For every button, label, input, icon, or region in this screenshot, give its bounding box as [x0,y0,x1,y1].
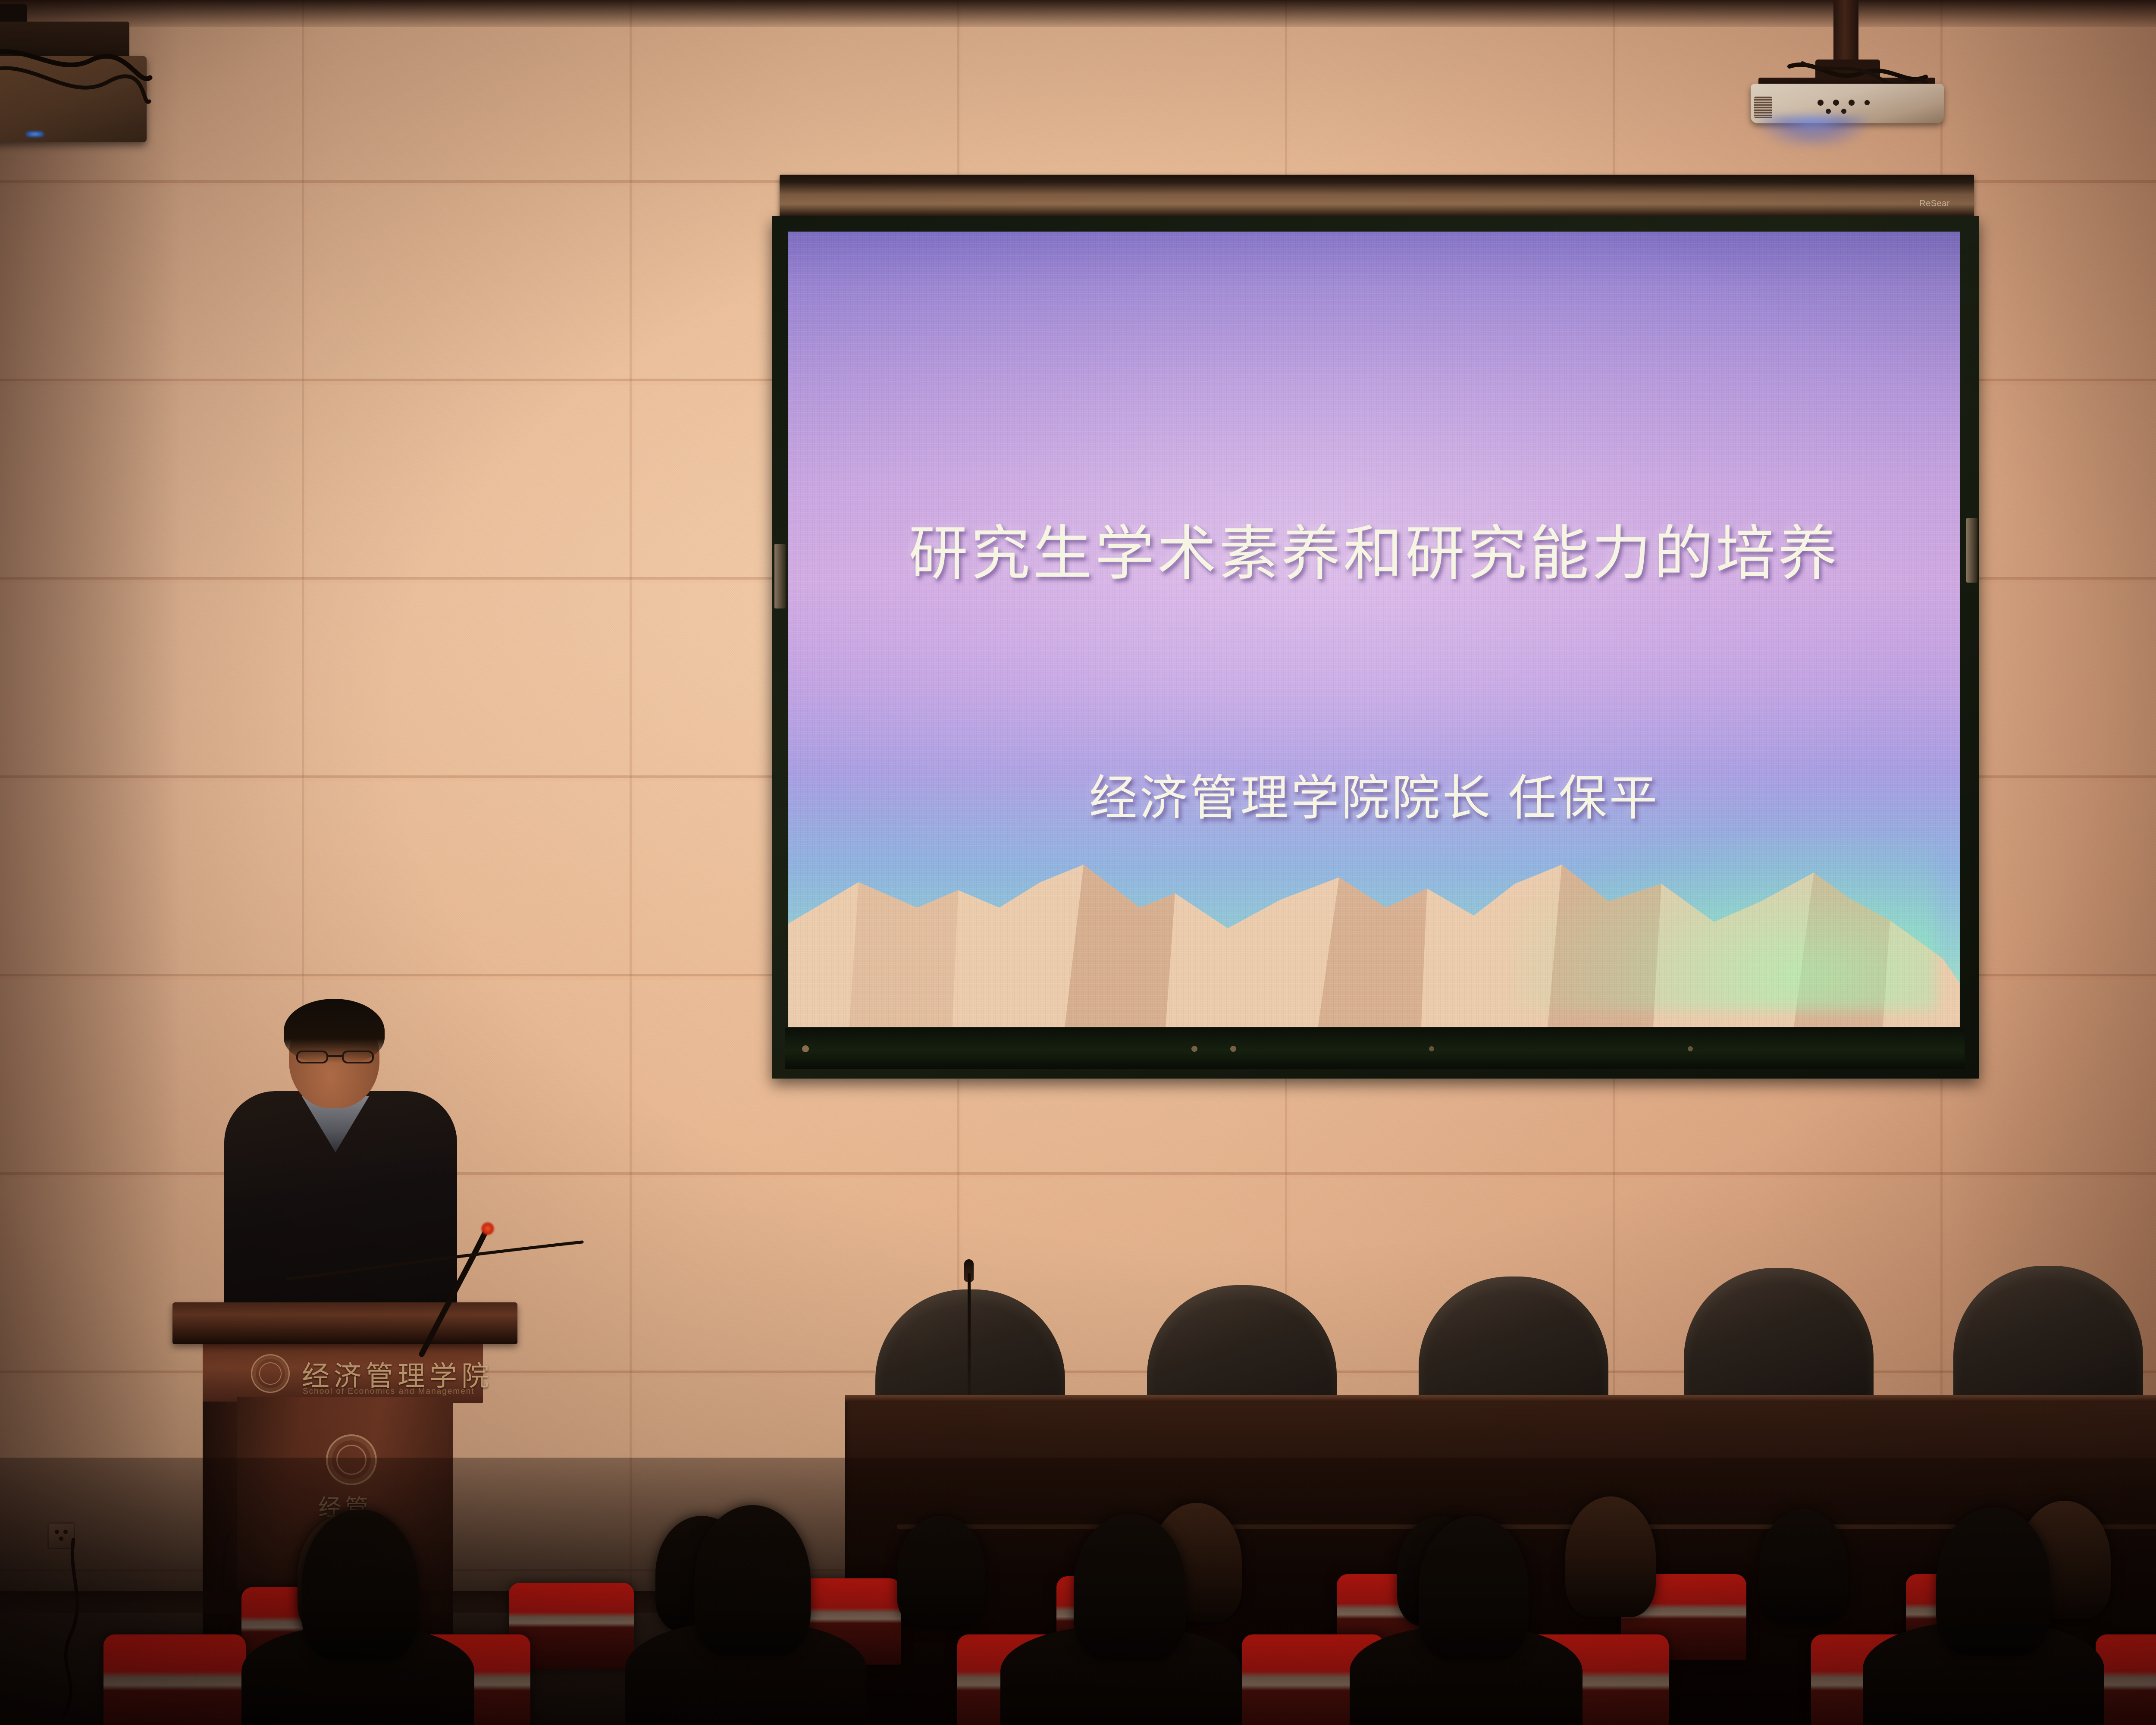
lecture-hall-scene: ReSear [0,0,2156,1725]
projector-lens-glow [1759,116,1867,147]
projected-slide: 研究生学术素养和研究能力的培养 经济管理学院院长 任保平 [788,232,1960,1027]
audience-seat[interactable] [2096,1634,2156,1725]
screen-weight-bar [785,1028,1965,1069]
audience-member [1759,1509,1848,1624]
lectern-org-name-en: School of Economics and Management [303,1387,475,1396]
projection-screen-assembly: ReSear [772,175,1979,1098]
audience-member [1419,1516,1529,1660]
projector-ports [1815,98,1910,116]
slide-subtitle: 经济管理学院院长 任保平 [1089,759,1659,829]
podium-mic-boom [285,1238,586,1289]
projector-vent [1754,97,1772,118]
screen-bar-fasteners [785,1045,1965,1053]
slide-title: 研究生学术素养和研究能力的培养 [909,519,1840,589]
screen-frame: 研究生学术素养和研究能力的培养 经济管理学院院长 任保平 [772,216,1979,1079]
rear-equipment [0,4,155,160]
audience-seat[interactable] [103,1634,246,1725]
audience-member [302,1509,418,1660]
university-seal-icon [251,1354,290,1393]
screen-roller-casing: ReSear [780,175,1974,222]
screen-side-clip-left [774,544,786,608]
ceiling-band [0,0,2156,27]
audience-member [897,1516,985,1628]
seat-backrest [103,1634,246,1725]
microphone-led [481,1222,494,1235]
slide-text-block: 研究生学术素养和研究能力的培养 经济管理学院院长 任保平 [788,232,1960,1027]
screen-brand-label: ReSear [1919,199,1950,209]
ceiling-projector [1733,52,1958,125]
equipment-cables [0,30,151,129]
projector-mount-pole [1833,0,1858,65]
equipment-power-led [26,131,44,137]
glasses-icon [296,1050,374,1064]
audience-area [0,1458,2156,1725]
audience-member [1936,1507,2050,1656]
audience-member [1074,1514,1186,1660]
audience-member [1565,1496,1656,1617]
screen-side-clip-right [1966,518,1977,583]
audience-member [694,1505,811,1656]
stage-mic-stem [968,1273,971,1402]
seat-backrest [2096,1634,2156,1725]
stage-gooseneck-microphone [964,1259,974,1402]
table-top-edge [845,1395,2156,1402]
